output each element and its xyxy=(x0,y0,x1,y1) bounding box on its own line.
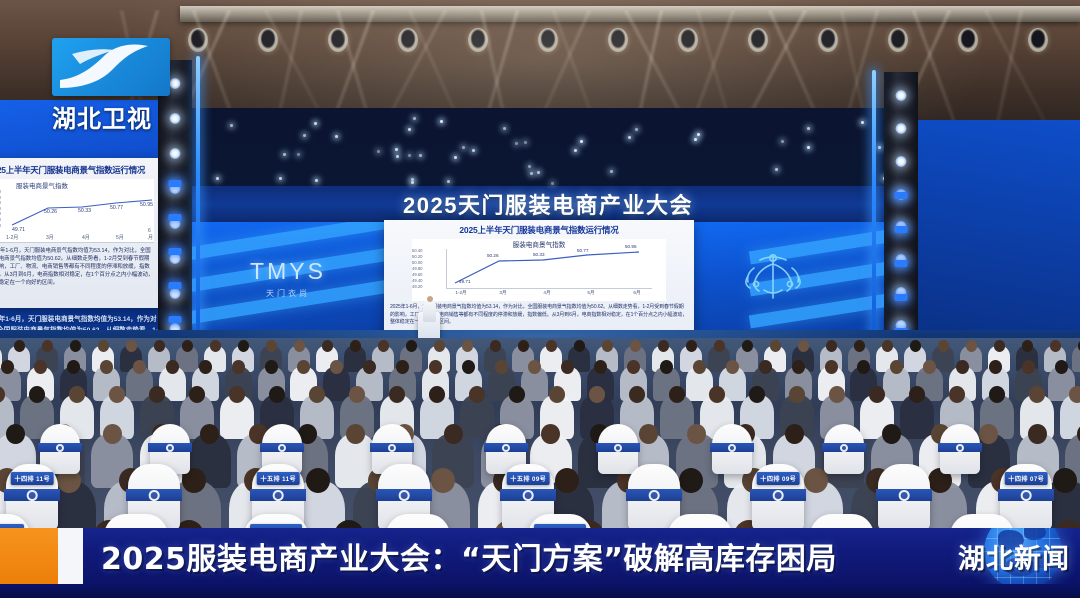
sparkle-light xyxy=(524,141,527,144)
program-brand: 湖北新闻 xyxy=(890,528,1080,584)
sparkle-light xyxy=(447,180,450,183)
chair-ring-buckle xyxy=(649,490,660,501)
sparkle-light xyxy=(635,128,638,131)
audience-head xyxy=(229,386,245,403)
headline-text: 2025服装电商产业大会：“天门方案”破解高库存困局 xyxy=(101,534,837,578)
audience-head xyxy=(6,424,25,444)
truss-lamp xyxy=(896,90,907,101)
side-chart-y-tick-2: 50.00 xyxy=(0,200,1,206)
sparkle-light xyxy=(377,150,380,153)
audience-head xyxy=(149,386,165,403)
sparkle-light xyxy=(413,117,416,120)
audience-head xyxy=(462,340,473,352)
chair-ring-buckle xyxy=(388,444,396,452)
lower-third-white-gap xyxy=(58,528,83,584)
sparkle-light xyxy=(878,146,881,149)
audience-head xyxy=(966,340,977,352)
audience-head xyxy=(589,386,605,403)
side-chart-xtick-2: 4月 xyxy=(82,234,90,241)
sparkle-light xyxy=(580,140,583,143)
audience-head xyxy=(434,340,445,352)
audience-head xyxy=(709,386,725,403)
lower-third-underline xyxy=(0,584,1080,598)
audience-head xyxy=(669,386,685,403)
audience-head xyxy=(232,360,245,374)
chart-data-label-1: 50.26 xyxy=(487,253,499,258)
seat-number-tag: 十四排 11号 xyxy=(11,472,54,485)
audience-head xyxy=(98,340,109,352)
audience-chair xyxy=(940,424,980,474)
audience-chair xyxy=(712,424,752,474)
audience-head xyxy=(69,386,85,403)
audience-head xyxy=(509,386,525,403)
lower-third-main: 2025服装电商产业大会：“天门方案”破解高库存困局 湖北新闻 xyxy=(83,528,1080,584)
side-chart-xtick-3: 5月 xyxy=(116,234,124,241)
side-chart-label-2: 50.33 xyxy=(78,208,91,214)
slide-title: 2025上半年天门服装电商景气指数运行情况 xyxy=(390,224,688,236)
audience-head xyxy=(1050,340,1061,352)
audience-head xyxy=(714,340,725,352)
audience-head xyxy=(469,386,485,403)
sparkle-light xyxy=(279,177,282,180)
sparkle-light xyxy=(297,153,300,156)
audience-head xyxy=(154,340,165,352)
audience-head xyxy=(829,386,845,403)
seat-number-tag: 十四排 07号 xyxy=(1005,472,1048,485)
audience-head xyxy=(1055,360,1068,374)
tmys-logo-text: TMYS xyxy=(218,258,358,285)
audience-head xyxy=(406,340,417,352)
chair-ring-buckle xyxy=(523,490,534,501)
audience-head xyxy=(594,360,607,374)
right-side-led-wall xyxy=(905,120,1080,350)
sparkle-light xyxy=(408,154,411,157)
ornamental-emblem-icon xyxy=(734,248,812,306)
audience-head xyxy=(658,340,669,352)
side-chart-label-3: 50.77 xyxy=(110,205,123,211)
side-chart-y-tick-5: 49.40 xyxy=(0,217,1,223)
audience-head xyxy=(29,386,45,403)
audience-head xyxy=(789,386,805,403)
audience-head xyxy=(330,360,343,374)
sparkle-light xyxy=(610,170,613,173)
neon-strip-left xyxy=(196,56,200,346)
chair-ring-buckle xyxy=(840,444,848,452)
truss-lamp xyxy=(896,123,907,134)
channel-name: 湖北卫视 xyxy=(52,99,174,134)
audience-head xyxy=(826,340,837,352)
sparkle-light xyxy=(216,177,219,180)
hubei-tv-logo-icon xyxy=(52,38,170,96)
audience-head xyxy=(349,386,365,403)
audience-head xyxy=(630,340,641,352)
sparkle-light xyxy=(515,142,518,145)
speaker-head xyxy=(427,296,433,302)
audience-head xyxy=(749,386,765,403)
side-slide-body: 2025年1-6月，天门服装电商景气指数均值为53.14，作为对比，全国服装电商… xyxy=(0,247,154,287)
chart-line-series xyxy=(447,249,653,289)
audience-chair: 十四排 09号 xyxy=(752,464,804,530)
conference-title: 2025天门服装电商产业大会 xyxy=(403,188,693,220)
sparkle-light xyxy=(861,121,864,124)
truss-blue-lamp xyxy=(895,226,908,233)
audience-head xyxy=(269,386,285,403)
side-chart-title: 服装电商景气指数 xyxy=(16,180,68,190)
audience-head xyxy=(956,360,969,374)
truss-blue-lamp xyxy=(895,192,908,199)
sparkle-light xyxy=(283,153,286,156)
truss-blue-lamp xyxy=(169,180,182,187)
audience-head xyxy=(309,386,325,403)
audience-head xyxy=(265,360,278,374)
sparkle-light xyxy=(315,179,318,182)
lower-third-banner: 2025服装电商产业大会：“天门方案”破解高库存困局 湖北新闻 xyxy=(0,528,1080,584)
neon-strip-right xyxy=(872,70,876,342)
sparkle-light xyxy=(537,171,540,174)
audience-head xyxy=(1,360,14,374)
chart-x-tick-2: 4月 xyxy=(543,290,550,296)
audience-head xyxy=(574,340,585,352)
chart-y-tick-2: 50.00 xyxy=(412,260,422,265)
chart-y-tick-5: 49.40 xyxy=(412,278,422,283)
audience-head xyxy=(639,424,658,444)
audience-chair xyxy=(824,424,864,474)
sparkle-light xyxy=(628,136,631,139)
audience-head xyxy=(910,340,921,352)
chart-y-tick-1: 50.20 xyxy=(412,254,422,259)
audience-head xyxy=(166,360,179,374)
audience-head xyxy=(103,424,122,444)
side-chart-label-0: 49.71 xyxy=(12,227,25,233)
audience-head xyxy=(890,360,903,374)
audience-chair xyxy=(628,464,680,530)
sparkle-light xyxy=(303,134,306,137)
audience-head xyxy=(629,386,645,403)
audience-head xyxy=(34,360,47,374)
audience-head xyxy=(1053,468,1077,493)
chart-y-tick-0: 50.40 xyxy=(412,248,422,253)
audience-chair xyxy=(598,424,638,474)
audience-head xyxy=(67,360,80,374)
sparkle-light xyxy=(454,156,457,159)
sparkle-light xyxy=(230,124,233,127)
audience-head xyxy=(199,360,212,374)
stage-led-title-band: 2025天门服装电商产业大会 xyxy=(188,186,908,222)
sparkle-light xyxy=(440,120,443,123)
side-chart-xtick-4: 6月 xyxy=(148,228,154,241)
chart-x-tick-0: 1-2月 xyxy=(455,290,466,296)
audience-head xyxy=(126,340,137,352)
sparkle-light xyxy=(472,149,475,152)
chair-ring-buckle xyxy=(166,444,174,452)
sparkle-light xyxy=(528,165,531,168)
audience-head xyxy=(100,360,113,374)
audience-head xyxy=(693,360,706,374)
audience-head xyxy=(541,424,560,444)
audience-head xyxy=(660,360,673,374)
chair-ring-buckle xyxy=(278,444,286,452)
sparkle-light xyxy=(574,149,577,152)
side-chart-xtick-0: 1-2月 xyxy=(6,234,18,241)
sparkle-light xyxy=(396,155,399,158)
side-chart-label-4: 50.95 xyxy=(140,202,153,208)
audience-head xyxy=(322,340,333,352)
audience-head xyxy=(42,340,53,352)
audience-head xyxy=(938,340,949,352)
audience-head xyxy=(792,360,805,374)
audience-head xyxy=(444,424,463,444)
seat-number-tag: 十五排 09号 xyxy=(507,472,550,485)
chart-x-tick-4: 6月 xyxy=(633,290,640,296)
audience-head xyxy=(949,386,965,403)
slide-chart: 服装电商景气指数 50.4050.2050.0049.8049.6049.404… xyxy=(412,239,666,301)
audience-head xyxy=(490,340,501,352)
chart-x-tick-3: 5月 xyxy=(587,290,594,296)
audience-head xyxy=(109,386,125,403)
audience-head xyxy=(869,386,885,403)
chart-y-tick-6: 49.20 xyxy=(412,284,422,289)
audience-head xyxy=(182,340,193,352)
audience-head xyxy=(462,360,475,374)
sparkle-light xyxy=(807,146,810,149)
audience-head xyxy=(549,386,565,403)
truss-lamp xyxy=(170,288,181,299)
side-chart-y-tick-6: 49.20 xyxy=(0,223,1,229)
audience-head xyxy=(294,340,305,352)
audience-head xyxy=(429,386,445,403)
side-chart-yaxis: 50.4050.2050.0049.8049.6049.4049.20 xyxy=(0,189,1,228)
audience-head xyxy=(389,386,405,403)
audience-head xyxy=(555,468,579,493)
sparkle-light xyxy=(697,133,700,136)
audience-head xyxy=(686,340,697,352)
chair-ring-buckle xyxy=(27,490,38,501)
audience-head xyxy=(561,360,574,374)
truss-blue-lamp xyxy=(169,316,182,323)
audience-head xyxy=(770,340,781,352)
audience-head xyxy=(989,386,1005,403)
chair-ring-buckle xyxy=(1021,490,1032,501)
chair-ring-buckle xyxy=(399,490,410,501)
audience-head xyxy=(350,340,361,352)
tmys-logo: TMYS 天门衣尚 xyxy=(218,258,358,299)
sparkle-light xyxy=(530,172,533,175)
chart-y-tick-4: 49.60 xyxy=(412,272,422,277)
audience-head xyxy=(854,340,865,352)
sparkle-light xyxy=(395,148,398,151)
seat-number-tag: 十五排 11号 xyxy=(257,472,300,485)
sparkle-light xyxy=(335,135,338,138)
broadcast-frame: 2025上半年天门服装电商景气指数运行情况 服装电商景气指数 50.4050.2… xyxy=(0,0,1080,598)
main-stage-backdrop: 2025天门服装电商产业大会 TMYS 天门衣尚 xyxy=(188,108,908,338)
audience-head xyxy=(994,340,1005,352)
chair-ring-buckle xyxy=(614,444,622,452)
truss-blue-lamp xyxy=(169,248,182,255)
side-chart-y-tick-0: 50.40 xyxy=(0,189,1,195)
audience-head xyxy=(378,340,389,352)
audience-head xyxy=(528,360,541,374)
audience-head xyxy=(14,340,25,352)
truss-blue-lamp xyxy=(169,214,182,221)
audience-head xyxy=(70,340,81,352)
audience-head xyxy=(518,340,529,352)
sparkle-light xyxy=(775,168,778,171)
audience-head xyxy=(189,386,205,403)
sparkle-light xyxy=(694,138,697,141)
sparkle-light xyxy=(314,122,317,125)
audience-head xyxy=(602,340,613,352)
audience-head xyxy=(133,360,146,374)
audience-head xyxy=(431,468,455,493)
chair-ring-buckle xyxy=(502,444,510,452)
audience-head xyxy=(909,386,925,403)
truss-blue-lamp xyxy=(895,260,908,267)
audience-head xyxy=(759,360,772,374)
side-slide-title: 2025上半年天门服装电商景气指数运行情况 xyxy=(0,164,154,176)
sparkle-light xyxy=(411,181,414,184)
sparkle-light xyxy=(807,127,810,130)
truss-blue-lamp xyxy=(895,294,908,301)
sparkle-light xyxy=(419,154,422,157)
chair-ring-buckle xyxy=(899,490,910,501)
chart-data-label-3: 50.77 xyxy=(577,248,589,253)
sparkle-light xyxy=(551,182,554,185)
channel-logo-bug: 湖北卫视 xyxy=(52,38,174,130)
chair-ring-buckle xyxy=(773,490,784,501)
audience-head xyxy=(396,360,409,374)
audience-head xyxy=(1029,386,1045,403)
audience-chair xyxy=(878,464,930,530)
truss-lamp xyxy=(896,156,907,167)
lower-third-orange-accent xyxy=(0,528,58,584)
chart-data-label-4: 50.95 xyxy=(625,244,637,249)
podium-speaker xyxy=(423,300,436,322)
stage-left-panel: TMYS 天门衣尚 xyxy=(188,222,388,338)
audience-head xyxy=(825,360,838,374)
audience-head xyxy=(882,340,893,352)
side-chart-label-1: 50.26 xyxy=(44,209,57,215)
audience-head xyxy=(1022,360,1035,374)
truss-lamp xyxy=(170,148,181,159)
audience-head xyxy=(238,340,249,352)
program-brand-text: 湖北新闻 xyxy=(958,537,1070,576)
sparkle-light xyxy=(503,127,506,130)
audience-head xyxy=(627,360,640,374)
tmys-logo-subtext: 天门衣尚 xyxy=(218,288,358,299)
audience-head xyxy=(798,340,809,352)
chair-ring-buckle xyxy=(728,444,736,452)
chair-ring-buckle xyxy=(149,490,160,501)
audience-head xyxy=(495,360,508,374)
side-chart-xtick-1: 3月 xyxy=(46,234,54,241)
chart-plot-area: 49.71 50.26 50.33 50.77 50.95 1-2月 3月 4月… xyxy=(446,249,652,289)
chart-data-label-0: 49.71 xyxy=(459,279,471,284)
side-chart-line xyxy=(6,197,158,231)
truss-blue-lamp xyxy=(169,282,182,289)
side-screen-slide: 2025上半年天门服装电商景气指数运行情况 服装电商景气指数 50.4050.2… xyxy=(0,158,160,308)
audience-head xyxy=(266,340,277,352)
sparkle-light xyxy=(408,128,411,131)
audience-head xyxy=(726,360,739,374)
audience-head xyxy=(785,424,804,444)
chart-data-label-2: 50.33 xyxy=(533,252,545,257)
truss-tower-right xyxy=(884,72,918,342)
audience-head xyxy=(546,340,557,352)
seat-number-tag: 十四排 09号 xyxy=(757,472,800,485)
audience-head xyxy=(363,360,376,374)
audience-chair: 十四排 07号 xyxy=(1000,464,1052,530)
sparkle-light xyxy=(462,146,465,149)
sparkle-light xyxy=(781,140,784,143)
audience-head xyxy=(1022,340,1033,352)
audience-head xyxy=(1028,424,1047,444)
side-slide-chart: 服装电商景气指数 50.4050.2050.0049.8049.6049.404… xyxy=(0,179,154,243)
audience-head xyxy=(882,424,901,444)
chart-x-tick-1: 3月 xyxy=(499,290,506,296)
audience-head xyxy=(210,340,221,352)
chair-ring-buckle xyxy=(56,444,64,452)
chair-ring-buckle xyxy=(956,444,964,452)
audience-head xyxy=(1069,386,1080,403)
audience-head xyxy=(923,360,936,374)
chair-ring-buckle xyxy=(273,490,284,501)
chart-y-tick-3: 49.80 xyxy=(412,266,422,271)
audience-head xyxy=(742,340,753,352)
audience-head xyxy=(989,360,1002,374)
audience-head xyxy=(429,360,442,374)
